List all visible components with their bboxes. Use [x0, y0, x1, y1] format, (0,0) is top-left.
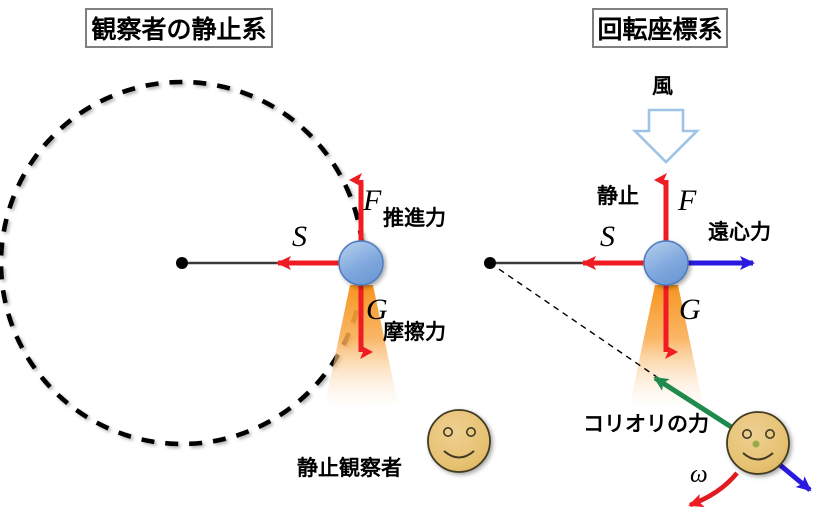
label-at-rest: 静止 [597, 186, 639, 207]
panel-title-right: 回転座標系 [592, 8, 728, 48]
pivot-dot-right [484, 257, 496, 269]
physics-diagram-canvas: 観察者の静止系 回転座標系 F 推進力 S G 摩擦力 静止観察者 風 静止 F… [0, 0, 822, 519]
panel-title-left: 観察者の静止系 [85, 8, 273, 48]
label-wind: 風 [652, 76, 673, 97]
rotating-observer-face [727, 412, 789, 474]
label-omega: ω [690, 462, 708, 487]
label-tension-s-right: S [600, 222, 615, 252]
label-stationary-observer: 静止観察者 [297, 458, 402, 479]
pivot-dot-left [176, 257, 188, 269]
label-force-f-left: F [363, 186, 381, 216]
label-propulsion-force-left: 推進力 [383, 208, 446, 229]
wind-block-arrow-icon [635, 110, 697, 162]
label-force-g-right: G [679, 295, 701, 325]
stationary-observer-face [428, 410, 490, 472]
ball-right [644, 241, 688, 285]
diagram-vector-layer [0, 0, 822, 519]
ball-left [339, 241, 383, 285]
label-force-f-right: F [678, 186, 696, 216]
label-centrifugal-force: 遠心力 [708, 222, 771, 243]
label-coriolis-force: コリオリの力 [583, 414, 709, 435]
label-friction-force-left: 摩擦力 [383, 322, 446, 343]
label-tension-s-left: S [292, 222, 307, 252]
